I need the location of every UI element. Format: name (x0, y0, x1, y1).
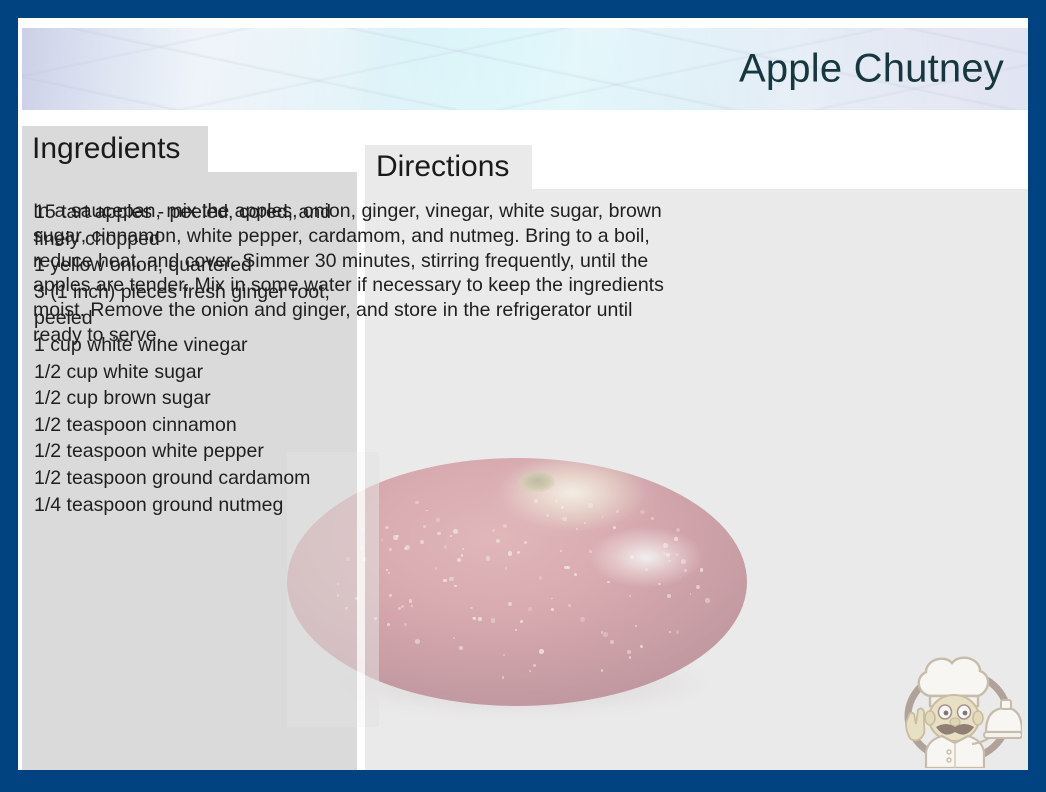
title-banner: Apple Chutney (22, 28, 1028, 110)
ingredients-heading: Ingredients (32, 134, 180, 164)
ingredient-item: 1/2 teaspoon ground cardamom (34, 465, 352, 492)
recipe-paper: Apple Chutney Ingredients Directions (18, 18, 1028, 770)
directions-tab-notch-top (365, 127, 1028, 145)
tab-directions: Directions (365, 145, 532, 189)
tab-ingredients: Ingredients (22, 126, 208, 172)
recipe-card: Apple Chutney Ingredients Directions (0, 0, 1046, 792)
directions-body: In a saucepan, mix the apples, onion, gi… (33, 199, 671, 348)
ingredient-item: 1/2 teaspoon cinnamon (34, 412, 352, 439)
ingredient-item: 1/2 teaspoon white pepper (34, 438, 352, 465)
ingredient-item: 1/2 cup white sugar (34, 359, 352, 386)
recipe-title: Apple Chutney (739, 47, 1004, 92)
content-panels: Ingredients Directions 15 tart apples - … (22, 127, 1028, 770)
ingredient-item: 1/4 teaspoon ground nutmeg (34, 492, 352, 519)
ingredients-tab-notch (208, 126, 357, 172)
directions-tab-notch-right (532, 145, 1028, 189)
ingredient-item: 1/2 cup brown sugar (34, 385, 352, 412)
directions-heading: Directions (376, 152, 509, 182)
